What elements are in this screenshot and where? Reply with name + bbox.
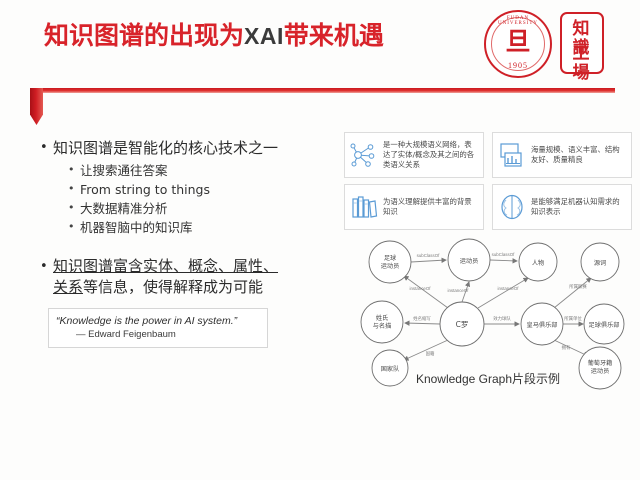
ribbon-marker	[30, 88, 43, 125]
brain-icon	[496, 191, 528, 223]
seal-year: 1905	[486, 61, 550, 70]
bullet2-underlined: 关系	[53, 278, 83, 296]
sub-bullet-3: 大数据精准分析	[68, 200, 335, 217]
knowledge-works-badge-icon: 知 識 工 場	[560, 12, 604, 74]
knowledge-graph-diagram: 足球运动员 运动员 人物 源词 姓氏与名描 C罗 皇马俱乐部 足球俱乐部 国家队…	[342, 236, 634, 392]
books-icon	[348, 191, 380, 223]
info-card-2-text: 海量规模、语义丰富、结构友好、质量精良	[531, 145, 627, 165]
svg-text:皇马俱乐部: 皇马俱乐部	[527, 321, 558, 329]
info-card-4-text: 是能够满足机器认知需求的知识表示	[531, 197, 627, 217]
title-suffix: 带来机遇	[284, 22, 384, 50]
svg-text:姓氏: 姓氏	[376, 314, 388, 322]
svg-text:运动员: 运动员	[460, 257, 479, 265]
svg-text:与名描: 与名描	[373, 322, 392, 330]
seal-university-text: FUDAN UNIVERSITY	[486, 16, 550, 26]
info-card-4: 是能够满足机器认知需求的知识表示	[492, 184, 632, 230]
sub-bullet-list: 让搜索通往答案 From string to things 大数据精准分析 机器…	[40, 162, 335, 236]
knowledge-graph-caption: Knowledge Graph片段示例	[342, 370, 634, 387]
bullet-primary-2-wrap: 知识图谱富含实体、概念、属性、关系等信息，使得解释成为可能	[40, 256, 335, 298]
kg-caption-en: Knowledge Graph	[416, 372, 512, 386]
left-content-column: 知识图谱是智能化的核心技术之一 让搜索通往答案 From string to t…	[40, 138, 335, 298]
quote-attribution: — Edward Feigenbaum	[56, 328, 260, 341]
svg-text:subClassOf: subClassOf	[492, 252, 515, 257]
svg-text:足球俱乐部: 足球俱乐部	[589, 321, 620, 329]
bullet-primary-1: 知识图谱是智能化的核心技术之一	[40, 138, 335, 158]
quote-text: “Knowledge is the power in AI system.”	[56, 314, 260, 328]
sub-bullet-2: From string to things	[68, 181, 335, 198]
bullet2-rest: 等信息，使得解释成为可能	[83, 278, 263, 296]
info-card-3-text: 为语义理解提供丰富的背景知识	[383, 197, 479, 217]
info-card-3: 为语义理解提供丰富的背景知识	[344, 184, 484, 230]
svg-text:C罗: C罗	[456, 320, 469, 329]
fudan-university-seal-icon: FUDAN UNIVERSITY 旦 1905	[484, 10, 552, 78]
svg-text:运动员: 运动员	[381, 262, 400, 270]
sub-bullet-1: 让搜索通往答案	[68, 162, 335, 179]
page-title: 知识图谱的出现为XAI带来机遇	[44, 24, 384, 49]
svg-text:所属联赛: 所属联赛	[569, 283, 587, 290]
info-card-1: 是一种大规模语义网络，表达了实体/概念及其之间的各类语义关系	[344, 132, 484, 178]
bullet-primary-2: 知识图谱富含实体、概念、属性、关系等信息，使得解释成为可能	[40, 256, 335, 298]
svg-text:效力球队: 效力球队	[493, 315, 511, 322]
title-underline-rule	[30, 88, 615, 93]
svg-text:instanceOf: instanceOf	[410, 286, 432, 291]
info-card-grid: 是一种大规模语义网络，表达了实体/概念及其之间的各类语义关系 海量规模、语义丰富…	[344, 132, 632, 230]
title-prefix: 知识图谱的出现为	[44, 22, 244, 50]
quote-box: “Knowledge is the power in AI system.” —…	[48, 308, 268, 348]
svg-text:所属单位: 所属单位	[564, 315, 582, 322]
bullet2-line1: 知识图谱富含实体、概念、属性、	[53, 257, 278, 275]
slide-canvas: 知识图谱的出现为XAI带来机遇 FUDAN UNIVERSITY 旦 1905 …	[0, 0, 640, 480]
svg-text:拥有: 拥有	[562, 344, 571, 351]
sub-bullet-4: 机器智脑中的知识库	[68, 219, 335, 236]
title-xai: XAI	[244, 23, 284, 49]
kg-caption-cn: 片段示例	[512, 372, 560, 386]
svg-text:葡萄牙籍: 葡萄牙籍	[588, 359, 613, 367]
svg-text:instanceOf: instanceOf	[448, 288, 470, 293]
svg-text:instanceOf: instanceOf	[498, 286, 520, 291]
info-card-1-text: 是一种大规模语义网络，表达了实体/概念及其之间的各类语义关系	[383, 140, 479, 170]
svg-text:姓名缩写: 姓名缩写	[413, 315, 431, 322]
network-graph-icon	[348, 139, 380, 171]
svg-text:源词: 源词	[594, 259, 606, 267]
svg-text:subClassOf: subClassOf	[417, 253, 440, 258]
info-card-2: 海量规模、语义丰富、结构友好、质量精良	[492, 132, 632, 178]
knowledge-graph-svg: 足球运动员 运动员 人物 源词 姓氏与名描 C罗 皇马俱乐部 足球俱乐部 国家队…	[342, 236, 634, 392]
seal-glyph: 旦	[486, 29, 550, 54]
svg-text:足球: 足球	[384, 254, 397, 262]
svg-text:人物: 人物	[532, 259, 544, 267]
badge-row-2: 工 場	[562, 45, 602, 83]
svg-text:国籍: 国籍	[426, 350, 435, 357]
database-chart-icon	[496, 139, 528, 171]
logo-group: FUDAN UNIVERSITY 旦 1905 知 識 工 場	[484, 8, 604, 82]
